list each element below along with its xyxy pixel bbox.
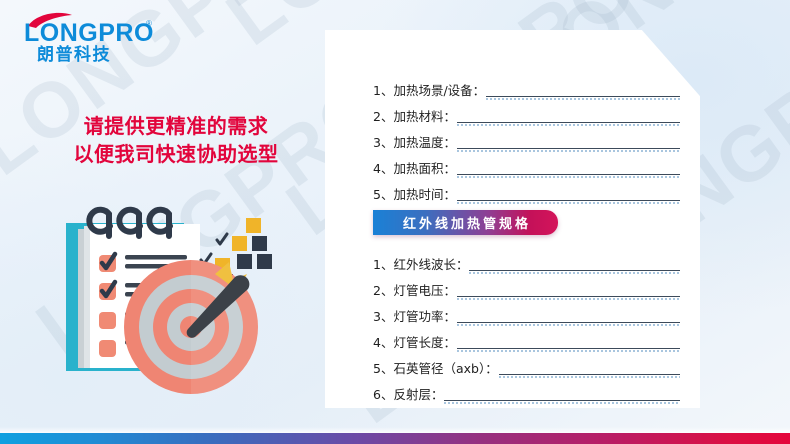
form-field-row[interactable]: 2、加热材料：	[373, 104, 680, 126]
brand-logo: LONGPRO ® 朗普科技 LONGPRO 朗普科技	[20, 10, 160, 66]
field-label: 2、灯管电压：	[373, 283, 456, 300]
field-input-line[interactable]	[486, 92, 680, 100]
checklist-target-illustration	[60, 196, 322, 398]
field-input-line[interactable]	[457, 318, 680, 326]
field-input-line[interactable]	[457, 196, 680, 204]
field-label: 4、灯管长度：	[373, 335, 456, 352]
form-field-row[interactable]: 3、灯管功率：	[373, 304, 680, 326]
form-field-row[interactable]: 4、灯管长度：	[373, 330, 680, 352]
field-input-line[interactable]	[457, 292, 680, 300]
field-input-line[interactable]	[444, 396, 680, 404]
field-label: 2、加热材料：	[373, 109, 456, 126]
field-input-line[interactable]	[469, 266, 680, 274]
form-field-row[interactable]: 5、加热时间：	[373, 182, 680, 204]
field-input-line[interactable]	[457, 144, 680, 152]
field-label: 4、加热面积：	[373, 161, 456, 178]
form-field-row[interactable]: 1、加热场景/设备：	[373, 78, 680, 100]
section-banner-label: 红外线加热管规格	[400, 213, 531, 232]
field-input-line[interactable]	[457, 344, 680, 352]
watermark-text: LONGPRO	[700, 0, 790, 14]
form-field-row[interactable]: 6、反射层：	[373, 382, 680, 404]
form-field-row[interactable]: 5、石英管径（axb）：	[373, 356, 680, 378]
field-input-line[interactable]	[457, 118, 680, 126]
form-field-row[interactable]: 1、红外线波长：	[373, 252, 680, 274]
field-input-line[interactable]	[457, 170, 680, 178]
field-label: 5、加热时间：	[373, 187, 456, 204]
field-label: 1、加热场景/设备：	[373, 83, 485, 100]
slide-canvas: LONGPRO LONGPRO LONGPRO LONGPRO LONGPRO …	[0, 0, 790, 444]
svg-text:®: ®	[146, 19, 152, 28]
field-label: 3、加热温度：	[373, 135, 456, 152]
section-banner-infrared-spec: 红外线加热管规格	[373, 210, 558, 235]
headline-line-1: 请提供更精准的需求	[42, 113, 310, 141]
field-label: 1、红外线波长：	[373, 257, 468, 274]
form-field-row[interactable]: 3、加热温度：	[373, 130, 680, 152]
field-label: 3、灯管功率：	[373, 309, 456, 326]
field-label: 5、石英管径（axb）：	[373, 361, 498, 378]
page-headline: 请提供更精准的需求 以便我司快速协助选型	[42, 113, 310, 169]
svg-text:LONGPRO: LONGPRO	[24, 19, 154, 47]
form-field-row[interactable]: 4、加热面积：	[373, 156, 680, 178]
headline-line-2: 以便我司快速协助选型	[42, 141, 310, 169]
bottom-gradient-bar	[0, 433, 790, 444]
field-label: 6、反射层：	[373, 387, 443, 404]
form-field-row[interactable]: 2、灯管电压：	[373, 278, 680, 300]
svg-text:朗普科技: 朗普科技	[37, 44, 111, 65]
field-input-line[interactable]	[499, 370, 680, 378]
requirement-form-card: 1、加热场景/设备： 2、加热材料： 3、加热温度： 4、加热面积： 5、加热时…	[325, 30, 700, 408]
